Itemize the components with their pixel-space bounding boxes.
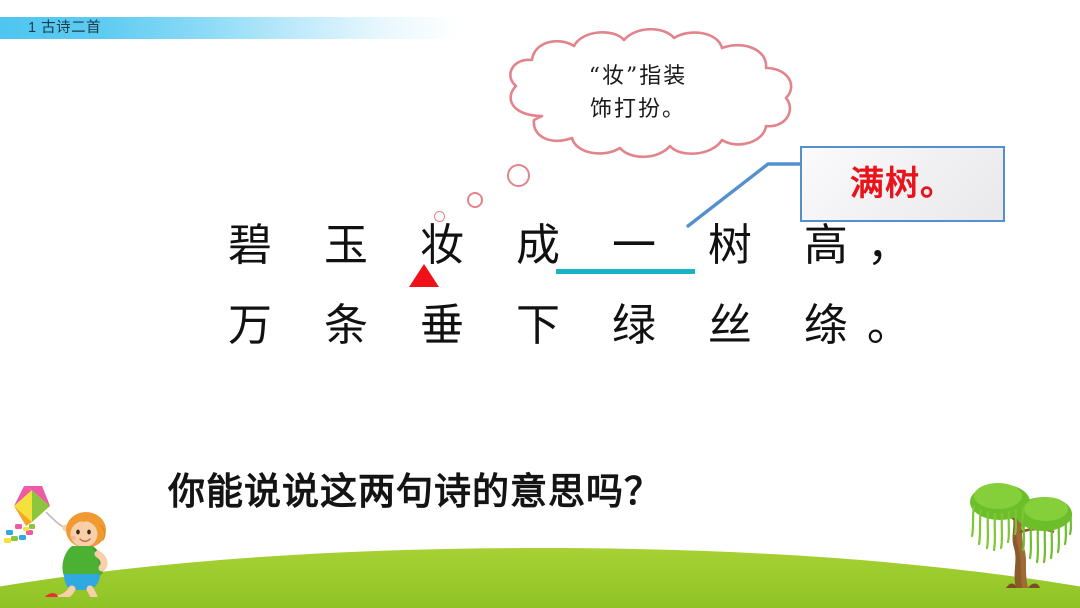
slide-canvas: 1 古诗二首 “妆”指装 饰打扮。 满树。 碧 玉 妆 成 一 树 高， 万 条… — [0, 0, 1080, 608]
boy-kite-svg — [2, 472, 132, 597]
thought-bubble-text: “妆”指装 饰打扮。 — [548, 60, 728, 126]
grass-hill-svg — [0, 544, 1080, 608]
poem-block: 碧 玉 妆 成 一 树 高， 万 条 垂 下 绿 丝 绦。 — [0, 212, 1080, 360]
question-prompt: 你能说说这两句诗的意思吗？ — [168, 468, 662, 516]
grass-hill — [0, 544, 1080, 608]
poem-line-2: 万 条 垂 下 绿 丝 绦。 — [228, 292, 1080, 360]
thought-bubble-text-line-1: “妆”指装 — [548, 60, 728, 93]
boy-figure — [43, 512, 106, 597]
thought-bubble-text-line-2: 饰打扮。 — [548, 93, 728, 126]
boy-with-kite-illustration — [2, 472, 132, 597]
callout-box[interactable]: 满树。 — [800, 146, 1005, 222]
poem-triangle-marker — [409, 264, 439, 287]
callout-box-text: 满树。 — [850, 167, 955, 201]
willow-tree-svg — [962, 462, 1078, 592]
page-title: 1 古诗二首 — [28, 18, 101, 38]
willow-tree-illustration — [962, 462, 1078, 592]
poem-underline-marker — [556, 269, 695, 274]
thought-bubble-dot-large — [507, 164, 530, 187]
kite-icon — [4, 486, 66, 543]
thought-bubble-dot-medium — [467, 192, 483, 208]
